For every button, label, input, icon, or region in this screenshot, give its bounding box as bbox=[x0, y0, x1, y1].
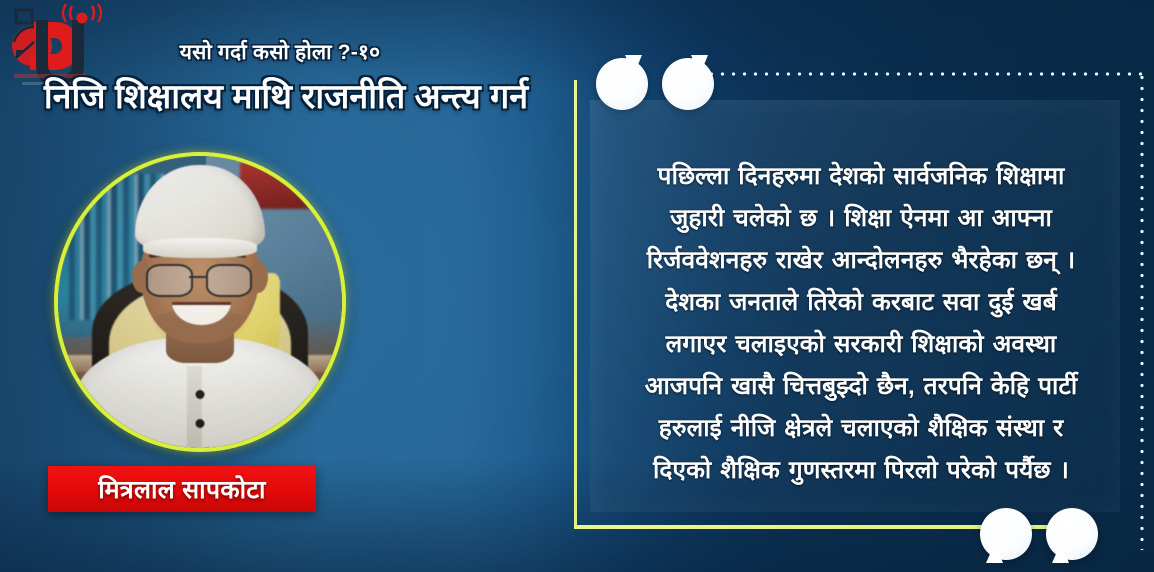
page-title: निजि शिक्षालय माथि राजनीति अन्त्य गर्न bbox=[36, 72, 536, 118]
quote-line: पछिल्ला दिनहरुमा देशको सार्वजनिक शिक्षाम… bbox=[604, 156, 1118, 198]
quote-line: देशका जनताले तिरेको करबाट सवा दुई खर्ब bbox=[604, 282, 1118, 324]
portrait-frame bbox=[54, 152, 346, 452]
quote-line: रिर्जववेशनहरु राखेर आन्दोलनहरु भैरहेका छ… bbox=[604, 240, 1118, 282]
close-quote-icon bbox=[980, 508, 1098, 560]
status-badge: मित्रलाल सापकोटा bbox=[48, 466, 316, 512]
kicker-text: यसो गर्दा कसो होला ?-१० bbox=[170, 38, 390, 66]
quote-panel: पछिल्ला दिनहरुमा देशको सार्वजनिक शिक्षाम… bbox=[560, 28, 1154, 572]
avatar bbox=[58, 156, 342, 448]
quote-line: हरुलाई नीजि क्षेत्रले चलाएको शैक्षिक संस… bbox=[604, 408, 1118, 450]
frame-dotted-top bbox=[684, 72, 1144, 76]
frame-dotted-right bbox=[1140, 72, 1144, 550]
frame-line-left bbox=[574, 80, 577, 528]
quote-line: दिएको शैक्षिक गुणस्तरमा पिरलो परेको पर्य… bbox=[604, 450, 1118, 492]
quote-text: पछिल्ला दिनहरुमा देशको सार्वजनिक शिक्षाम… bbox=[604, 156, 1118, 492]
open-quote-icon bbox=[596, 58, 714, 110]
banner-canvas: यसो गर्दा कसो होला ?-१० निजि शिक्षालय मा… bbox=[0, 0, 1154, 572]
photo-vignette bbox=[58, 156, 342, 448]
quote-line: जुहारी चलेको छ । शिक्षा ऐनमा आ आफ्ना bbox=[604, 198, 1118, 240]
quote-line: आजपनि खासै चित्तबुझ्दो छैन, तरपनि केहि प… bbox=[604, 366, 1118, 408]
speaker-name: मित्रलाल सापकोटा bbox=[98, 472, 266, 506]
quote-line: लगाएर चलाइएको सरकारी शिक्षाको अवस्था bbox=[604, 324, 1118, 366]
